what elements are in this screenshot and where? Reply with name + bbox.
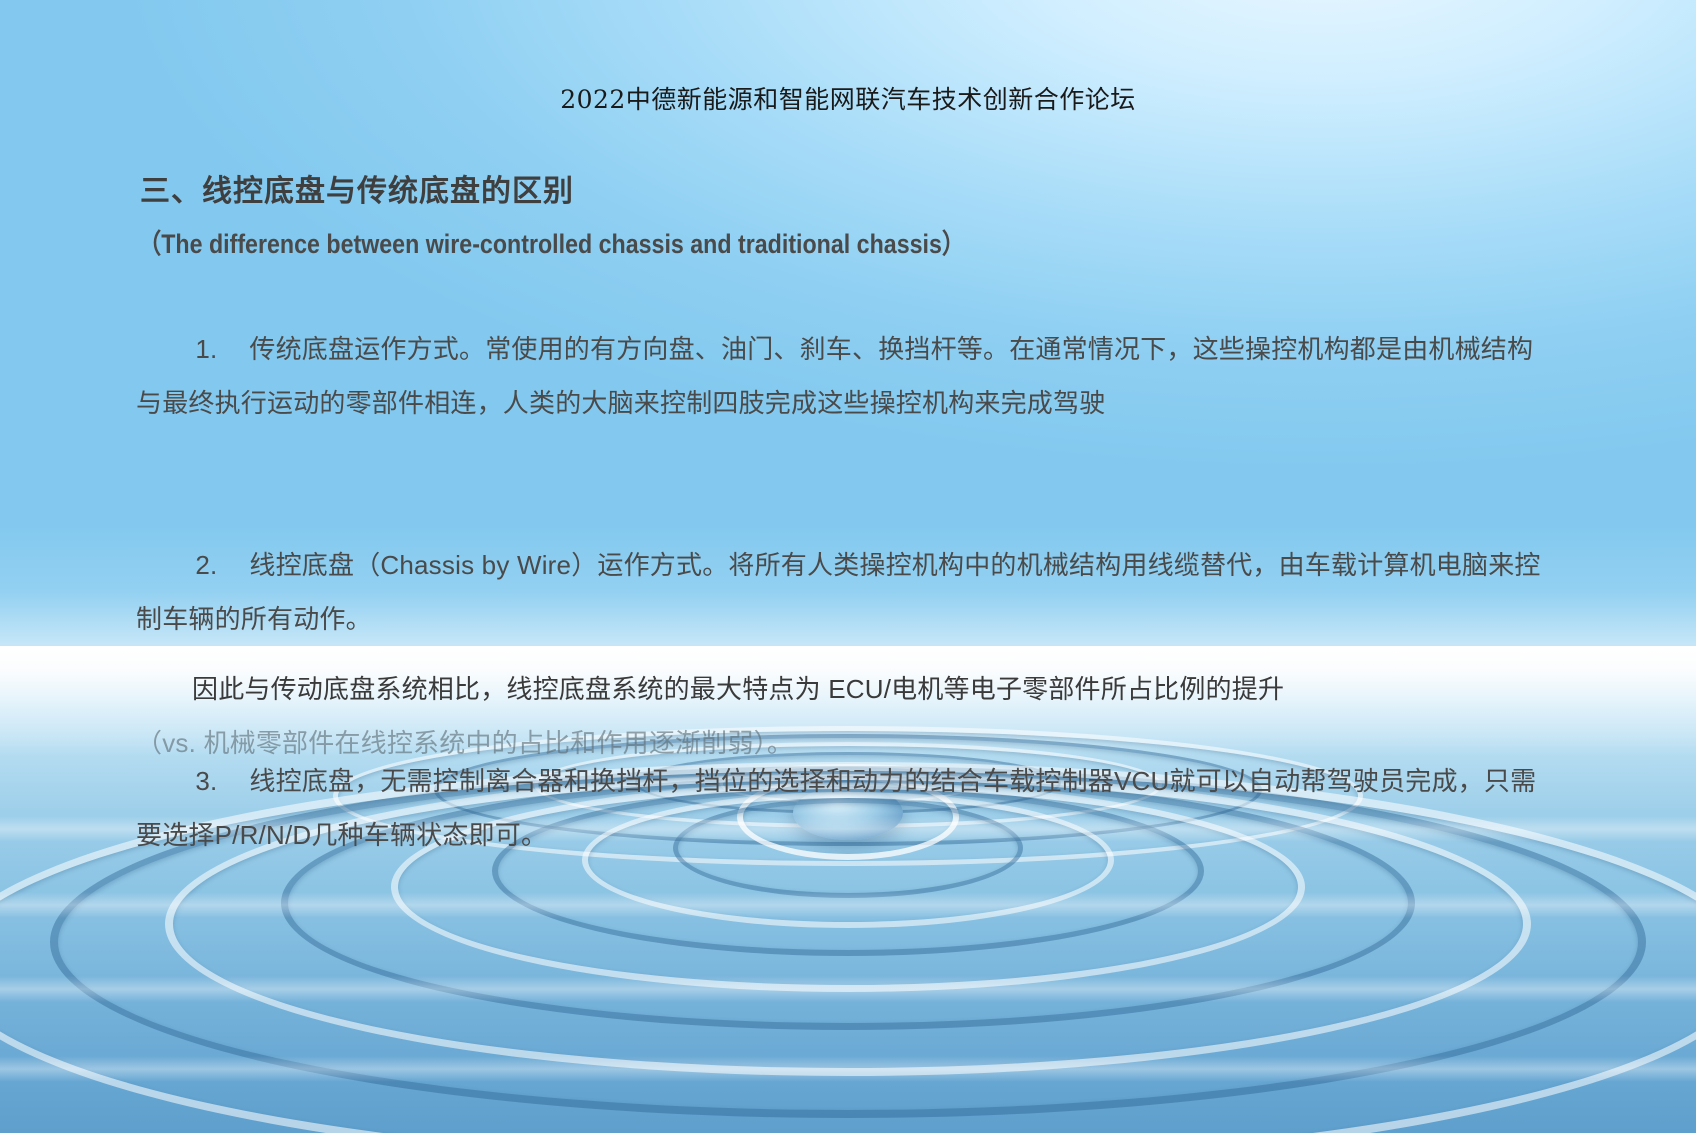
list-item-number: 1. [195, 322, 249, 376]
presentation-slide: 2022中德新能源和智能网联汽车技术创新合作论坛 三、线控底盘与传统底盘的区别 … [0, 0, 1696, 1133]
section-heading-chinese: 三、线控底盘与传统底盘的区别 [140, 166, 574, 210]
numbered-paragraph-list: 1.传统底盘运作方式。常使用的有方向盘、油门、刹车、换挡杆等。在通常情况下，这些… [136, 268, 1556, 916]
section-heading-english: （The difference between wire-controlled … [138, 222, 965, 261]
closing-statement: 因此与传动底盘系统相比，线控底盘系统的最大特点为 ECU/电机等电子零部件所占比… [136, 662, 1566, 770]
slide-header-title: 2022中德新能源和智能网联汽车技术创新合作论坛 [0, 80, 1696, 116]
list-item-text: 线控底盘，无需控制离合器和换挡杆，挡位的选择和动力的结合车载控制器VCU就可以自… [136, 766, 1536, 850]
list-item-text: 线控底盘（Chassis by Wire）运作方式。将所有人类操控机构中的机械结… [136, 550, 1541, 634]
slide-content: 2022中德新能源和智能网联汽车技术创新合作论坛 三、线控底盘与传统底盘的区别 … [0, 0, 1696, 1133]
list-item: 1.传统底盘运作方式。常使用的有方向盘、油门、刹车、换挡杆等。在通常情况下，这些… [136, 268, 1556, 484]
list-item-number: 2. [195, 538, 249, 592]
closing-statement-secondary: （vs. 机械零部件在线控系统中的占比和作用逐渐削弱）。 [136, 716, 1566, 770]
closing-statement-primary: 因此与传动底盘系统相比，线控底盘系统的最大特点为 ECU/电机等电子零部件所占比… [136, 662, 1566, 716]
list-item-text: 传统底盘运作方式。常使用的有方向盘、油门、刹车、换挡杆等。在通常情况下，这些操控… [136, 334, 1533, 418]
